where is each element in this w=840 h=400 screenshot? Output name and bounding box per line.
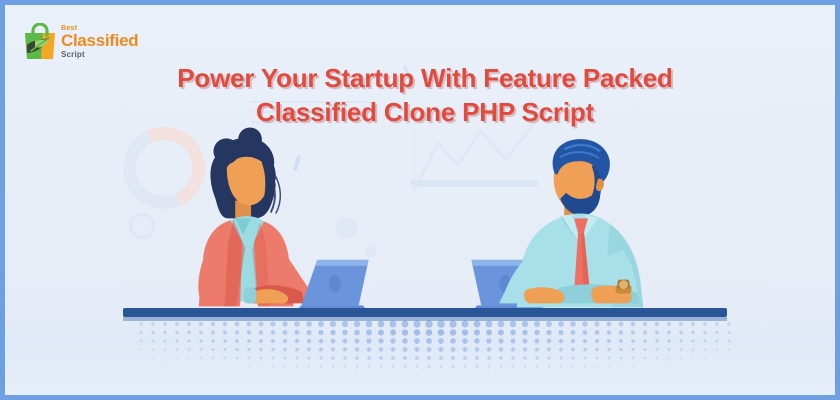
- banner-headline: Power Your Startup With Feature Packed C…: [125, 62, 725, 129]
- logo-classified-text: Classified: [61, 33, 138, 49]
- logo-script-text: Script: [61, 51, 138, 59]
- logo-wordmark: Best Classified Script: [61, 25, 138, 58]
- brand-logo[interactable]: Best Classified Script: [23, 23, 138, 61]
- man-illustration: [499, 139, 643, 307]
- promo-banner: Best Classified Script Power Your Startu…: [0, 0, 840, 400]
- desk-surface: [123, 308, 727, 317]
- headline-line-1: Power Your Startup With Feature Packed: [125, 62, 725, 95]
- headline-line-2: Classified Clone PHP Script: [125, 96, 725, 129]
- woman-illustration: [198, 128, 311, 307]
- halftone-dot-pattern: [135, 319, 735, 381]
- desk-shadow: [123, 317, 727, 321]
- laptop-left: [297, 260, 368, 309]
- shopping-bag-leaf-logo-icon: [23, 23, 57, 61]
